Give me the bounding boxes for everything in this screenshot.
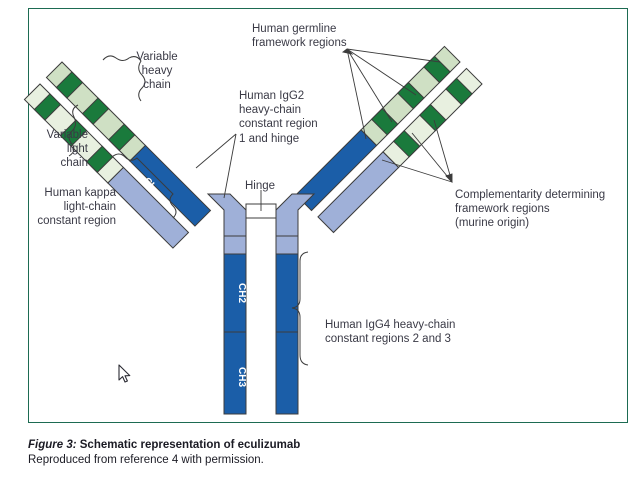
- ch2-label: CH2: [236, 283, 247, 303]
- ch3-label: CH3: [236, 367, 247, 387]
- left-hinge-elbow: [208, 194, 246, 240]
- label-igg2-ch1-hinge: Human IgG2 heavy-chain constant region 1…: [239, 89, 344, 146]
- label-variable-heavy-chain: Variable heavy chain: [112, 50, 202, 93]
- antibody-diagram: CH1 CL CH2 CH3: [0, 0, 633, 485]
- label-germline-framework-regions: Human germline framework regions: [252, 22, 372, 50]
- right-ch3-domain: [276, 332, 298, 414]
- caption-title-line: Figure 3: Schematic representation of ec…: [28, 438, 628, 453]
- right-stem-upper-light: [276, 236, 298, 254]
- label-hinge: Hinge: [245, 179, 289, 193]
- left-stem-upper-light: [224, 236, 246, 254]
- caption-source-line: Reproduced from reference 4 with permiss…: [28, 453, 628, 468]
- caption-title-text: Schematic representation of eculizumab: [80, 439, 300, 451]
- label-kappa-constant-region: Human kappa light-chain constant region: [8, 186, 116, 229]
- label-variable-light-chain: Variable light chain: [8, 128, 88, 171]
- label-cdr-murine-origin: Complementarity determining framework re…: [455, 188, 630, 231]
- figure-caption: Figure 3: Schematic representation of ec…: [28, 438, 628, 468]
- leader-lines-igg2: [196, 134, 236, 198]
- right-ch2-domain: [276, 254, 298, 332]
- caption-figure-number: Figure 3:: [28, 439, 77, 451]
- mouse-cursor: [119, 365, 130, 382]
- label-igg4-ch2-ch3: Human IgG4 heavy-chain constant regions …: [325, 318, 495, 346]
